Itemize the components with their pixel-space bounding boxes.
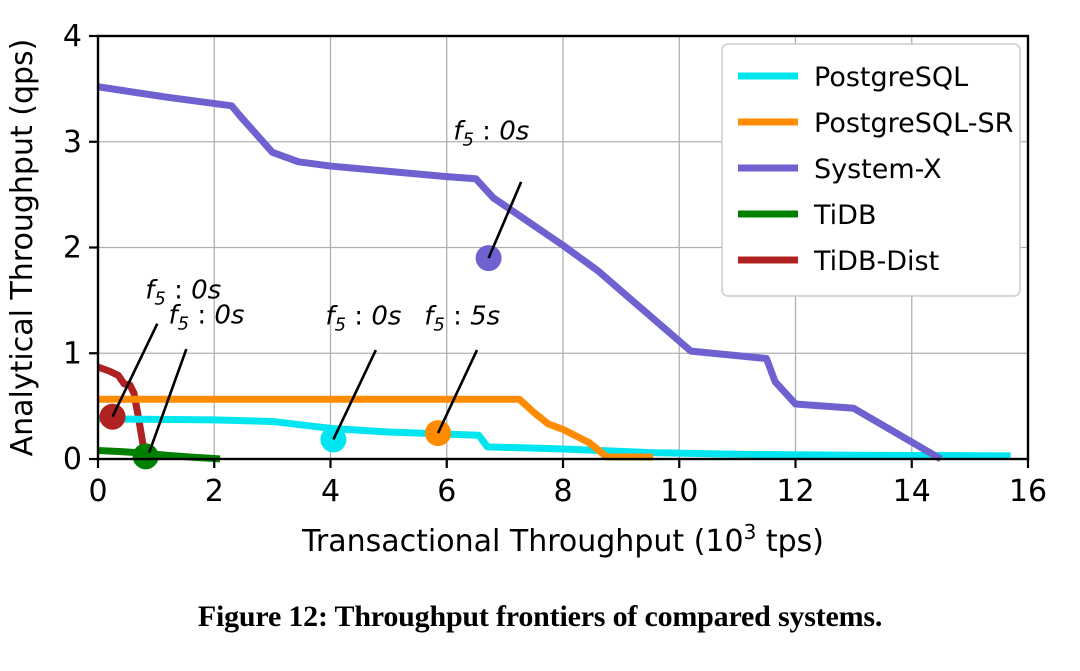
data-point-markers (100, 245, 502, 469)
axis-titles: Transactional Throughput (103 tps)Analyt… (5, 39, 824, 559)
ytick-label: 1 (63, 336, 82, 371)
annot-system-x-label: f5 : 0s (453, 117, 529, 151)
throughput-frontier-chart: f5 : 0sf5 : 0sf5 : 0sf5 : 5sf5 : 0s 0246… (0, 0, 1080, 575)
xtick-label: 10 (660, 474, 698, 509)
legend-label-postgresql: PostgreSQL (814, 62, 968, 93)
ytick-label: 4 (63, 19, 82, 54)
legend-label-tidb-dist: TiDB-Dist (813, 246, 939, 277)
xtick-label: 2 (205, 474, 224, 509)
ytick-label: 2 (63, 231, 82, 266)
x-axis-title: Transactional Throughput (103 tps) (301, 520, 824, 559)
annot-tidb-label: f5 : 0s (168, 301, 244, 335)
annot-postgresql-leader (333, 350, 375, 439)
y-axis-title: Analytical Throughput (qps) (5, 39, 40, 457)
figure-container: f5 : 0sf5 : 0sf5 : 0sf5 : 5sf5 : 0s 0246… (0, 0, 1080, 671)
chart-legend: PostgreSQLPostgreSQL-SRSystem-XTiDBTiDB-… (722, 44, 1020, 296)
annot-postgresql-sr-leader (438, 350, 477, 433)
legend-label-system-x: System-X (814, 154, 942, 185)
xtick-label: 6 (437, 474, 456, 509)
annot-postgresql-sr-label: f5 : 5s (424, 302, 500, 336)
xtick-label: 0 (88, 474, 107, 509)
ytick-label: 0 (63, 442, 82, 477)
series-line-tidb (98, 451, 220, 459)
marker-tidb (133, 443, 159, 469)
ytick-label: 3 (63, 125, 82, 160)
annot-postgresql-label: f5 : 0s (325, 302, 401, 336)
xtick-label: 4 (321, 474, 340, 509)
xtick-label: 12 (776, 474, 814, 509)
legend-label-tidb: TiDB (813, 200, 876, 231)
figure-caption: Figure 12: Throughput frontiers of compa… (0, 600, 1080, 634)
legend-label-postgresql-sr: PostgreSQL-SR (814, 108, 1013, 139)
xtick-label: 14 (893, 474, 931, 509)
xtick-label: 16 (1009, 474, 1047, 509)
xtick-label: 8 (553, 474, 572, 509)
